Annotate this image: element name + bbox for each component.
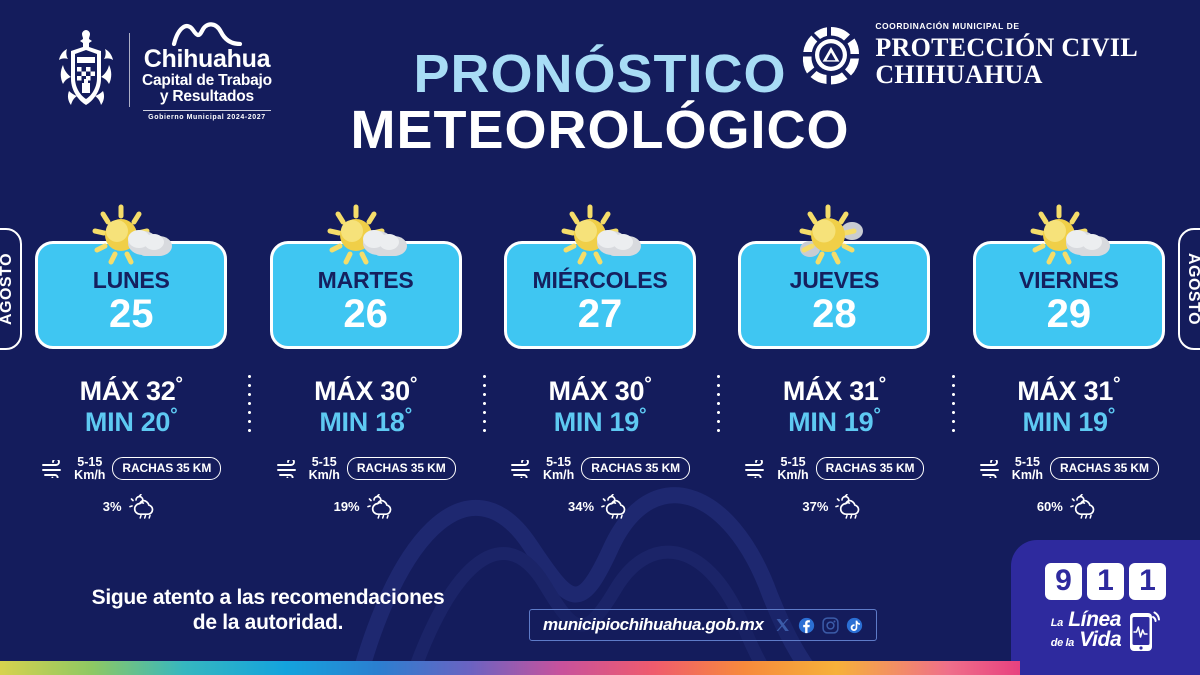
wind-speed-value: 5-15 — [1015, 455, 1040, 469]
wind-speed-value: 5-15 — [546, 455, 571, 469]
wind-speed: 5-15 Km/h — [74, 456, 105, 482]
degree-symbol: ° — [1108, 405, 1115, 426]
max-temperature: MÁX 30° — [548, 375, 651, 406]
wind-gust-badge: RACHAS 35 KM — [1050, 457, 1159, 480]
rain-row: 60% — [1037, 494, 1101, 519]
forecast-column: VIERNES 29 — [952, 196, 1186, 541]
wind-icon — [276, 460, 302, 478]
pc-name-line-1: PROTECCIÓN CIVIL — [875, 34, 1138, 61]
facebook-icon[interactable] — [798, 617, 815, 634]
x-twitter-icon[interactable] — [774, 617, 791, 634]
min-temperature: MIN 19° — [783, 406, 886, 437]
wind-row: 5-15 Km/h RACHAS 35 KM — [744, 456, 924, 482]
rain-chance: 19% — [334, 499, 360, 514]
forecast-column: LUNES 25 — [14, 196, 248, 541]
min-temperature: MIN 19° — [548, 406, 651, 437]
weather-forecast-poster: Chihuahua Capital de Trabajo y Resultado… — [0, 0, 1200, 675]
degree-symbol: ° — [1113, 374, 1120, 395]
temperature-block: MÁX 32° MIN 20° — [80, 375, 183, 437]
forecast-column: MIÉRCOLES 27 — [483, 196, 717, 541]
max-temperature: MÁX 31° — [783, 375, 886, 406]
wind-icon — [744, 460, 770, 478]
social-links — [774, 617, 863, 634]
degree-symbol: ° — [879, 374, 886, 395]
cloud-shape — [363, 230, 407, 256]
degree-symbol: ° — [170, 405, 177, 426]
max-temperature: MÁX 31° — [1017, 375, 1120, 406]
rain-row: 34% — [568, 494, 632, 519]
day-number: 26 — [343, 294, 388, 334]
wind-speed: 5-15 Km/h — [309, 456, 340, 482]
wind-gust-badge: RACHAS 35 KM — [816, 457, 925, 480]
wind-speed-unit: Km/h — [777, 468, 808, 482]
rain-cloud-icon — [1069, 494, 1101, 519]
max-temperature: MÁX 32° — [80, 375, 183, 406]
recommendation-line-1: Sigue atento a las recomendaciones — [58, 585, 478, 610]
day-number: 28 — [812, 294, 857, 334]
forecast-column: JUEVES 28 — [717, 196, 951, 541]
pc-name-line-2: CHIHUAHUA — [875, 61, 1138, 88]
emergency-slogan: La Línea de la Vida — [1051, 610, 1122, 649]
wind-row: 5-15 Km/h RACHAS 35 KM — [276, 456, 456, 482]
wind-row: 5-15 Km/h RACHAS 35 KM — [510, 456, 690, 482]
day-number: 25 — [109, 294, 154, 334]
rain-chance: 34% — [568, 499, 594, 514]
rain-row: 19% — [334, 494, 398, 519]
cloud-shape — [128, 230, 172, 256]
civil-protection-emblem-icon — [798, 22, 864, 88]
cloud-shape — [1066, 230, 1110, 256]
emergency-digit-1: 9 — [1045, 563, 1082, 600]
wind-speed-value: 5-15 — [77, 455, 102, 469]
rainbow-accent-bar — [0, 661, 1020, 675]
wind-speed: 5-15 Km/h — [777, 456, 808, 482]
temperature-block: MÁX 30° MIN 19° — [548, 375, 651, 437]
wind-speed-unit: Km/h — [1012, 468, 1043, 482]
forecast-column: MARTES 26 — [248, 196, 482, 541]
wind-speed-value: 5-15 — [312, 455, 337, 469]
instagram-icon[interactable] — [822, 617, 839, 634]
emergency-digit-2: 1 — [1087, 563, 1124, 600]
degree-symbol: ° — [405, 405, 412, 426]
month-tab-right-label: AGOSTO — [1184, 253, 1200, 325]
degree-symbol: ° — [410, 374, 417, 395]
emergency-911-panel[interactable]: 9 1 1 La Línea de la Vida — [1011, 540, 1200, 675]
sun-behind-cloud-icon — [550, 201, 650, 275]
rain-cloud-icon — [366, 494, 398, 519]
emergency-digit-3: 1 — [1129, 563, 1166, 600]
pc-coordination-label: COORDINACIÓN MUNICIPAL DE — [875, 22, 1138, 31]
degree-symbol: ° — [873, 405, 880, 426]
day-number: 29 — [1047, 294, 1092, 334]
rain-chance: 60% — [1037, 499, 1063, 514]
poster-header: Chihuahua Capital de Trabajo y Resultado… — [0, 0, 1200, 175]
max-temperature: MÁX 30° — [314, 375, 417, 406]
title-line-2: METEOROLÓGICO — [0, 104, 1200, 157]
wind-speed-unit: Km/h — [543, 468, 574, 482]
min-temperature: MIN 18° — [314, 406, 417, 437]
temperature-block: MÁX 30° MIN 18° — [314, 375, 417, 437]
slogan-prefix: La — [1051, 617, 1063, 629]
rain-cloud-icon — [128, 494, 160, 519]
rain-cloud-icon — [834, 494, 866, 519]
slogan-middle: de la — [1051, 637, 1074, 649]
wind-icon — [979, 460, 1005, 478]
website-url[interactable]: municipiochihuahua.gob.mx — [543, 615, 763, 635]
wind-icon — [41, 460, 67, 478]
cloud-shape — [597, 230, 641, 256]
slogan-word-2: Vida — [1079, 628, 1121, 651]
rain-cloud-icon — [600, 494, 632, 519]
wind-icon — [510, 460, 536, 478]
wind-row: 5-15 Km/h RACHAS 35 KM — [979, 456, 1159, 482]
min-temperature: MIN 19° — [1017, 406, 1120, 437]
rain-row: 37% — [802, 494, 866, 519]
wind-speed-value: 5-15 — [781, 455, 806, 469]
recommendation-line-2: de la autoridad. — [58, 610, 478, 635]
forecast-grid: LUNES 25 — [14, 196, 1186, 541]
wind-row: 5-15 Km/h RACHAS 35 KM — [41, 456, 221, 482]
proteccion-civil-logo: COORDINACIÓN MUNICIPAL DE PROTECCIÓN CIV… — [798, 22, 1138, 88]
mobile-phone-pulse-icon — [1126, 607, 1160, 653]
rain-chance: 37% — [802, 499, 828, 514]
sun-behind-cloud-icon — [1019, 201, 1119, 275]
sun-behind-cloud-icon — [316, 201, 416, 275]
sun-behind-cloud-icon — [784, 201, 884, 275]
min-temperature: MIN 20° — [80, 406, 183, 437]
degree-symbol: ° — [639, 405, 646, 426]
mountain-logo-icon — [171, 20, 243, 46]
website-bar[interactable]: municipiochihuahua.gob.mx — [529, 609, 877, 641]
tiktok-icon[interactable] — [846, 617, 863, 634]
rain-row: 3% — [103, 494, 160, 519]
wind-speed-unit: Km/h — [74, 468, 105, 482]
sun-behind-cloud-icon — [81, 201, 181, 275]
recommendation-message: Sigue atento a las recomendaciones de la… — [58, 585, 478, 635]
degree-symbol: ° — [644, 374, 651, 395]
degree-symbol: ° — [175, 374, 182, 395]
emergency-number: 9 1 1 — [1045, 563, 1166, 600]
temperature-block: MÁX 31° MIN 19° — [1017, 375, 1120, 437]
day-number: 27 — [578, 294, 623, 334]
wind-gust-badge: RACHAS 35 KM — [347, 457, 456, 480]
wind-speed: 5-15 Km/h — [1012, 456, 1043, 482]
wind-gust-badge: RACHAS 35 KM — [112, 457, 221, 480]
rain-chance: 3% — [103, 499, 122, 514]
temperature-block: MÁX 31° MIN 19° — [783, 375, 886, 437]
wind-gust-badge: RACHAS 35 KM — [581, 457, 690, 480]
wind-speed: 5-15 Km/h — [543, 456, 574, 482]
wind-speed-unit: Km/h — [309, 468, 340, 482]
